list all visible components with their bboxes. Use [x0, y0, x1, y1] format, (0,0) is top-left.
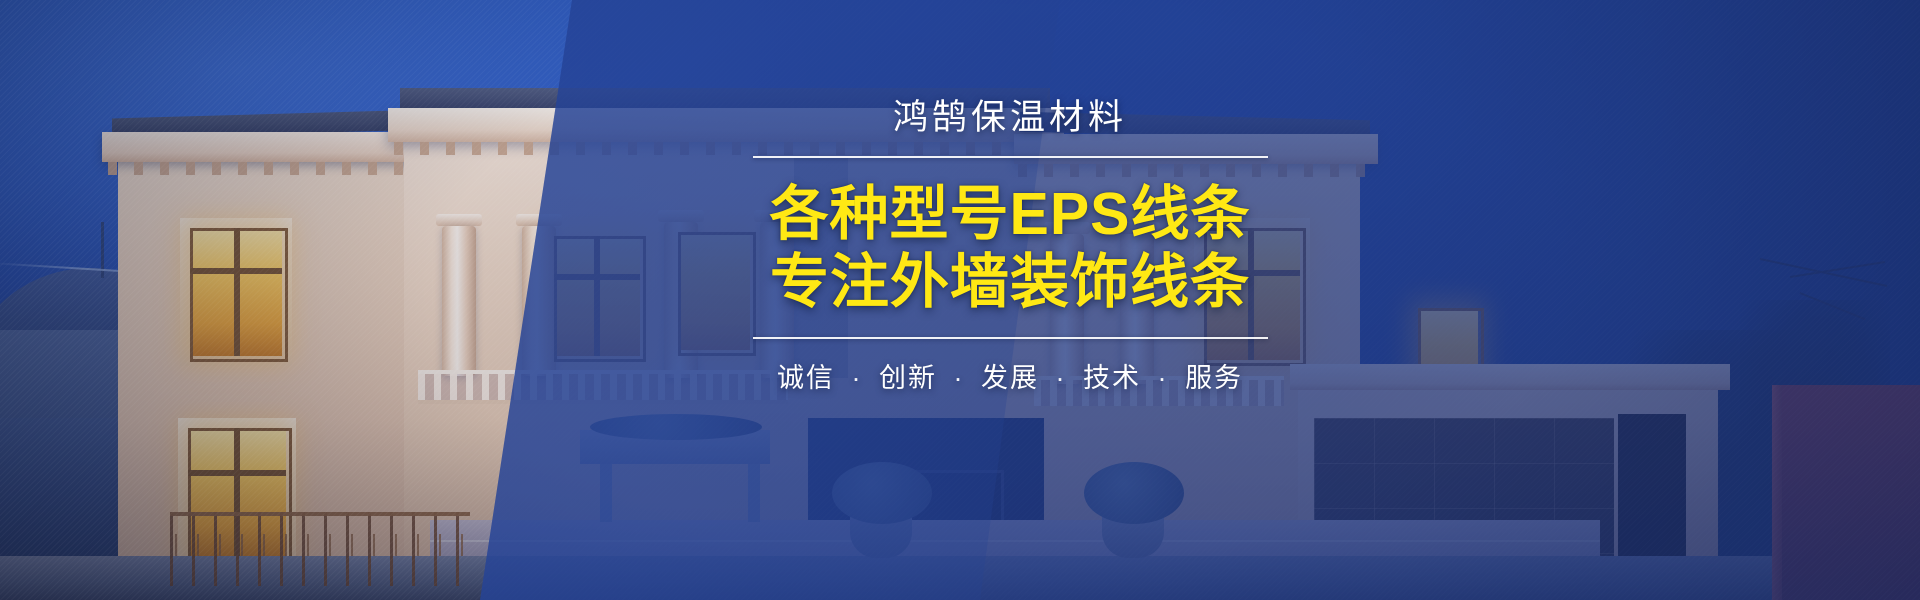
tagline-item-4: 技术 — [1083, 363, 1141, 393]
divider-bottom — [753, 337, 1268, 339]
headline-line-1: 各种型号EPS线条 — [690, 180, 1330, 248]
banner-text-block: 鸿鹄保温材料 各种型号EPS线条 专注外墙装饰线条 诚信 · 创新 · 发展 ·… — [690, 96, 1330, 395]
tagline-separator-2: · — [946, 363, 971, 393]
headline-line-2: 专注外墙装饰线条 — [690, 248, 1330, 316]
tagline-item-3: 发展 — [981, 363, 1039, 393]
tagline-separator-1: · — [844, 363, 869, 393]
brand-subtitle: 鸿鹄保温材料 — [690, 96, 1330, 140]
hero-banner: 鸿鹄保温材料 各种型号EPS线条 专注外墙装饰线条 诚信 · 创新 · 发展 ·… — [0, 0, 1920, 600]
tagline: 诚信 · 创新 · 发展 · 技术 · 服务 — [690, 356, 1330, 395]
tagline-item-2: 创新 — [879, 363, 937, 393]
tagline-separator-4: · — [1151, 363, 1176, 393]
tagline-separator-3: · — [1049, 363, 1074, 393]
tagline-item-5: 服务 — [1185, 363, 1243, 393]
divider-top — [753, 156, 1268, 158]
headline-group: 各种型号EPS线条 专注外墙装饰线条 — [690, 180, 1330, 317]
tagline-item-1: 诚信 — [777, 363, 835, 393]
